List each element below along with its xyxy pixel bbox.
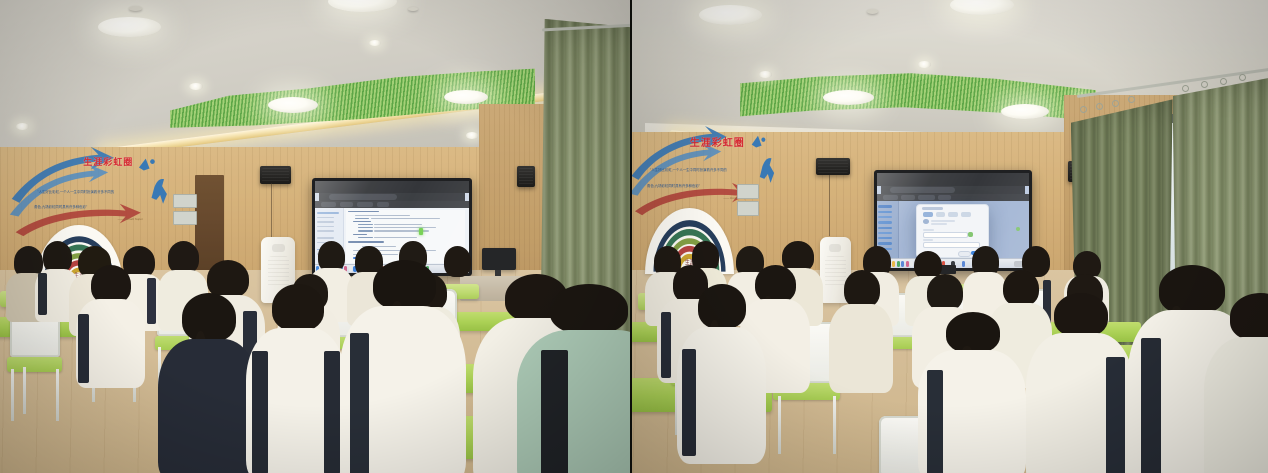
student: [918, 312, 1026, 473]
dialog-field[interactable]: [923, 232, 969, 238]
sidebar-item[interactable]: [878, 242, 891, 244]
ceiling-light: [699, 5, 763, 25]
document-line: [374, 224, 422, 225]
uniform-stripe: [324, 351, 340, 473]
classroom-scene-left: 生涯彩虹圈 "人生好比彩虹,一个人一生中同时扮演着许多不同的 角色,九场彩虹同时…: [0, 0, 630, 473]
address-field[interactable]: [890, 187, 954, 194]
student-hair: [927, 274, 963, 310]
document-line: [358, 230, 373, 231]
smoke-detector: [129, 6, 142, 11]
classroom-scene-right: 生涯彩虹圈 "人生好比彩虹,一个人一生中同时扮演着许多不同的 角色,九场彩虹同时…: [632, 0, 1268, 473]
wall-speaker: [816, 158, 849, 175]
decal-subtitle-line-2: 角色,九场彩虹同时具有许多种色彩": [647, 184, 700, 188]
chair-leg: [778, 396, 781, 454]
student: [517, 284, 630, 473]
panel-seam: [630, 0, 632, 473]
mouse-cursor: [419, 228, 423, 235]
sidebar-item[interactable]: [317, 237, 334, 238]
sidebar-item[interactable]: [878, 232, 891, 234]
chair-leg: [56, 369, 59, 421]
dialog-tab[interactable]: [936, 212, 946, 217]
bookmark-item[interactable]: [918, 195, 935, 200]
student-hair: [182, 293, 236, 342]
bookmark-item[interactable]: [340, 202, 354, 207]
student-hair: [698, 284, 746, 329]
page-accent-block: [1016, 227, 1021, 231]
speaker-cable: [271, 183, 272, 240]
downlight: [918, 61, 931, 67]
bookmark-item[interactable]: [377, 202, 389, 207]
decal-signature: —— Donald Super: [118, 217, 143, 221]
document-line: [374, 227, 436, 228]
sidebar-item[interactable]: [878, 221, 891, 223]
ceiling-light: [1001, 104, 1049, 119]
sidebar-item[interactable]: [878, 216, 891, 218]
chair-leg: [833, 396, 836, 454]
dialog-tab[interactable]: [948, 212, 958, 217]
student: [677, 284, 766, 464]
student: [158, 293, 259, 473]
student: [246, 284, 347, 473]
dialog-accent-icon: [968, 232, 974, 237]
document-line: [358, 224, 373, 225]
uniform-stripe: [252, 351, 268, 473]
dialog-title: [922, 207, 943, 210]
student: [829, 270, 893, 393]
downlight: [466, 132, 478, 138]
wall-speaker: [260, 166, 292, 183]
chair-seat: [7, 357, 61, 372]
dialog-tab[interactable]: [961, 212, 971, 217]
wall-vent: [173, 194, 196, 208]
downlight: [759, 71, 772, 78]
curtain-grommet: [1220, 78, 1227, 85]
student-torso: [829, 304, 893, 393]
wall-vent: [737, 201, 759, 215]
dialog-row: [931, 220, 955, 223]
decal-subtitle-line-1: "人生好比彩虹,一个人一生中同时扮演着许多不同的: [37, 190, 114, 194]
decal-subtitle-line-2: 角色,九场彩虹同时具有许多种色彩": [34, 205, 87, 209]
uniform-stripe: [350, 333, 369, 473]
chair-leg: [11, 369, 14, 421]
dialog-label: [923, 239, 933, 241]
chair-leg: [23, 367, 26, 414]
uniform-stripe: [927, 370, 943, 473]
dialog-label: [923, 229, 934, 231]
sidebar-item[interactable]: [878, 205, 891, 207]
bookmark-item[interactable]: [938, 195, 952, 200]
document-line: [358, 237, 373, 238]
taskbar-icon[interactable]: [901, 261, 904, 267]
document-line: [374, 237, 417, 238]
document-line: [355, 218, 369, 219]
student-hair: [1054, 293, 1108, 337]
document-line: [358, 227, 373, 228]
document-line: [371, 218, 440, 219]
smoke-detector: [408, 7, 418, 11]
student-hair: [844, 270, 880, 308]
uniform-stripe: [661, 312, 671, 378]
curtain-grommet: [1112, 100, 1119, 107]
decal-title: 生涯彩虹圈: [690, 134, 745, 149]
decal-subtitle-line-1: "人生好比彩虹,一个人一生中同时扮演着许多不同的: [650, 168, 727, 172]
student-torso: [158, 339, 259, 473]
student-hair: [373, 260, 436, 310]
wall-vent: [173, 211, 196, 225]
avatar: [923, 219, 929, 224]
document-heading: [353, 234, 367, 235]
speaker-cable: [829, 175, 830, 236]
ceiling-light: [444, 90, 488, 104]
sidebar-item[interactable]: [317, 226, 334, 227]
document-heading: [348, 211, 379, 212]
uniform-stripe: [147, 278, 156, 324]
bookmarks-bar: [877, 194, 1030, 201]
photo-left: 生涯彩虹圈 "人生好比彩虹,一个人一生中同时扮演着许多不同的 角色,九场彩虹同时…: [0, 0, 630, 473]
ceiling-light: [268, 97, 318, 113]
desk-monitor: [482, 248, 516, 270]
student-torso: [517, 330, 630, 473]
student: [76, 265, 145, 388]
bookmark-item[interactable]: [321, 202, 336, 207]
photo-right: 生涯彩虹圈 "人生好比彩虹,一个人一生中同时扮演着许多不同的 角色,九场彩虹同时…: [632, 0, 1268, 473]
sidebar-item[interactable]: [878, 237, 891, 239]
student-torso: [1204, 337, 1268, 473]
student: [1204, 293, 1268, 473]
student-hair: [550, 284, 629, 334]
sidebar-item[interactable]: [317, 217, 334, 218]
document-line: [355, 215, 410, 216]
student: [340, 260, 466, 473]
uniform-stripe: [78, 314, 89, 383]
wall-speaker: [517, 166, 536, 188]
student-hair: [946, 312, 1000, 353]
downlight: [16, 123, 29, 130]
document-heading: [348, 241, 384, 242]
photo-pair-canvas: 生涯彩虹圈 "人生好比彩虹,一个人一生中同时扮演着许多不同的 角色,九场彩虹同时…: [0, 0, 1268, 473]
ceiling-light: [98, 17, 161, 38]
bookmark-item[interactable]: [901, 195, 915, 200]
browser-titlebar: [877, 173, 1030, 185]
student-hair: [1230, 293, 1268, 341]
address-field[interactable]: [329, 194, 397, 200]
student: [1026, 293, 1134, 473]
dialog-tab[interactable]: [923, 212, 933, 217]
uniform-stripe: [541, 350, 568, 473]
student-hair: [272, 284, 324, 332]
browser-titlebar: [315, 181, 469, 193]
sidebar-item[interactable]: [878, 211, 891, 213]
sidebar-item[interactable]: [317, 221, 334, 222]
sidebar-item[interactable]: [317, 230, 334, 231]
uniform-stripe: [38, 273, 47, 315]
decal-title: 生涯彩虹圈: [83, 155, 133, 168]
sidebar-item[interactable]: [878, 227, 891, 229]
ceiling-light: [823, 90, 874, 105]
document-heading: [353, 221, 371, 222]
bookmark-item[interactable]: [357, 202, 374, 207]
uniform-stripe: [1141, 338, 1161, 473]
bookmark-item[interactable]: [883, 195, 898, 200]
uniform-stripe: [1106, 357, 1124, 473]
wall-vent: [737, 184, 759, 198]
sidebar-item[interactable]: [317, 212, 339, 213]
uniform-stripe: [682, 349, 696, 457]
dialog-row: [931, 223, 946, 225]
